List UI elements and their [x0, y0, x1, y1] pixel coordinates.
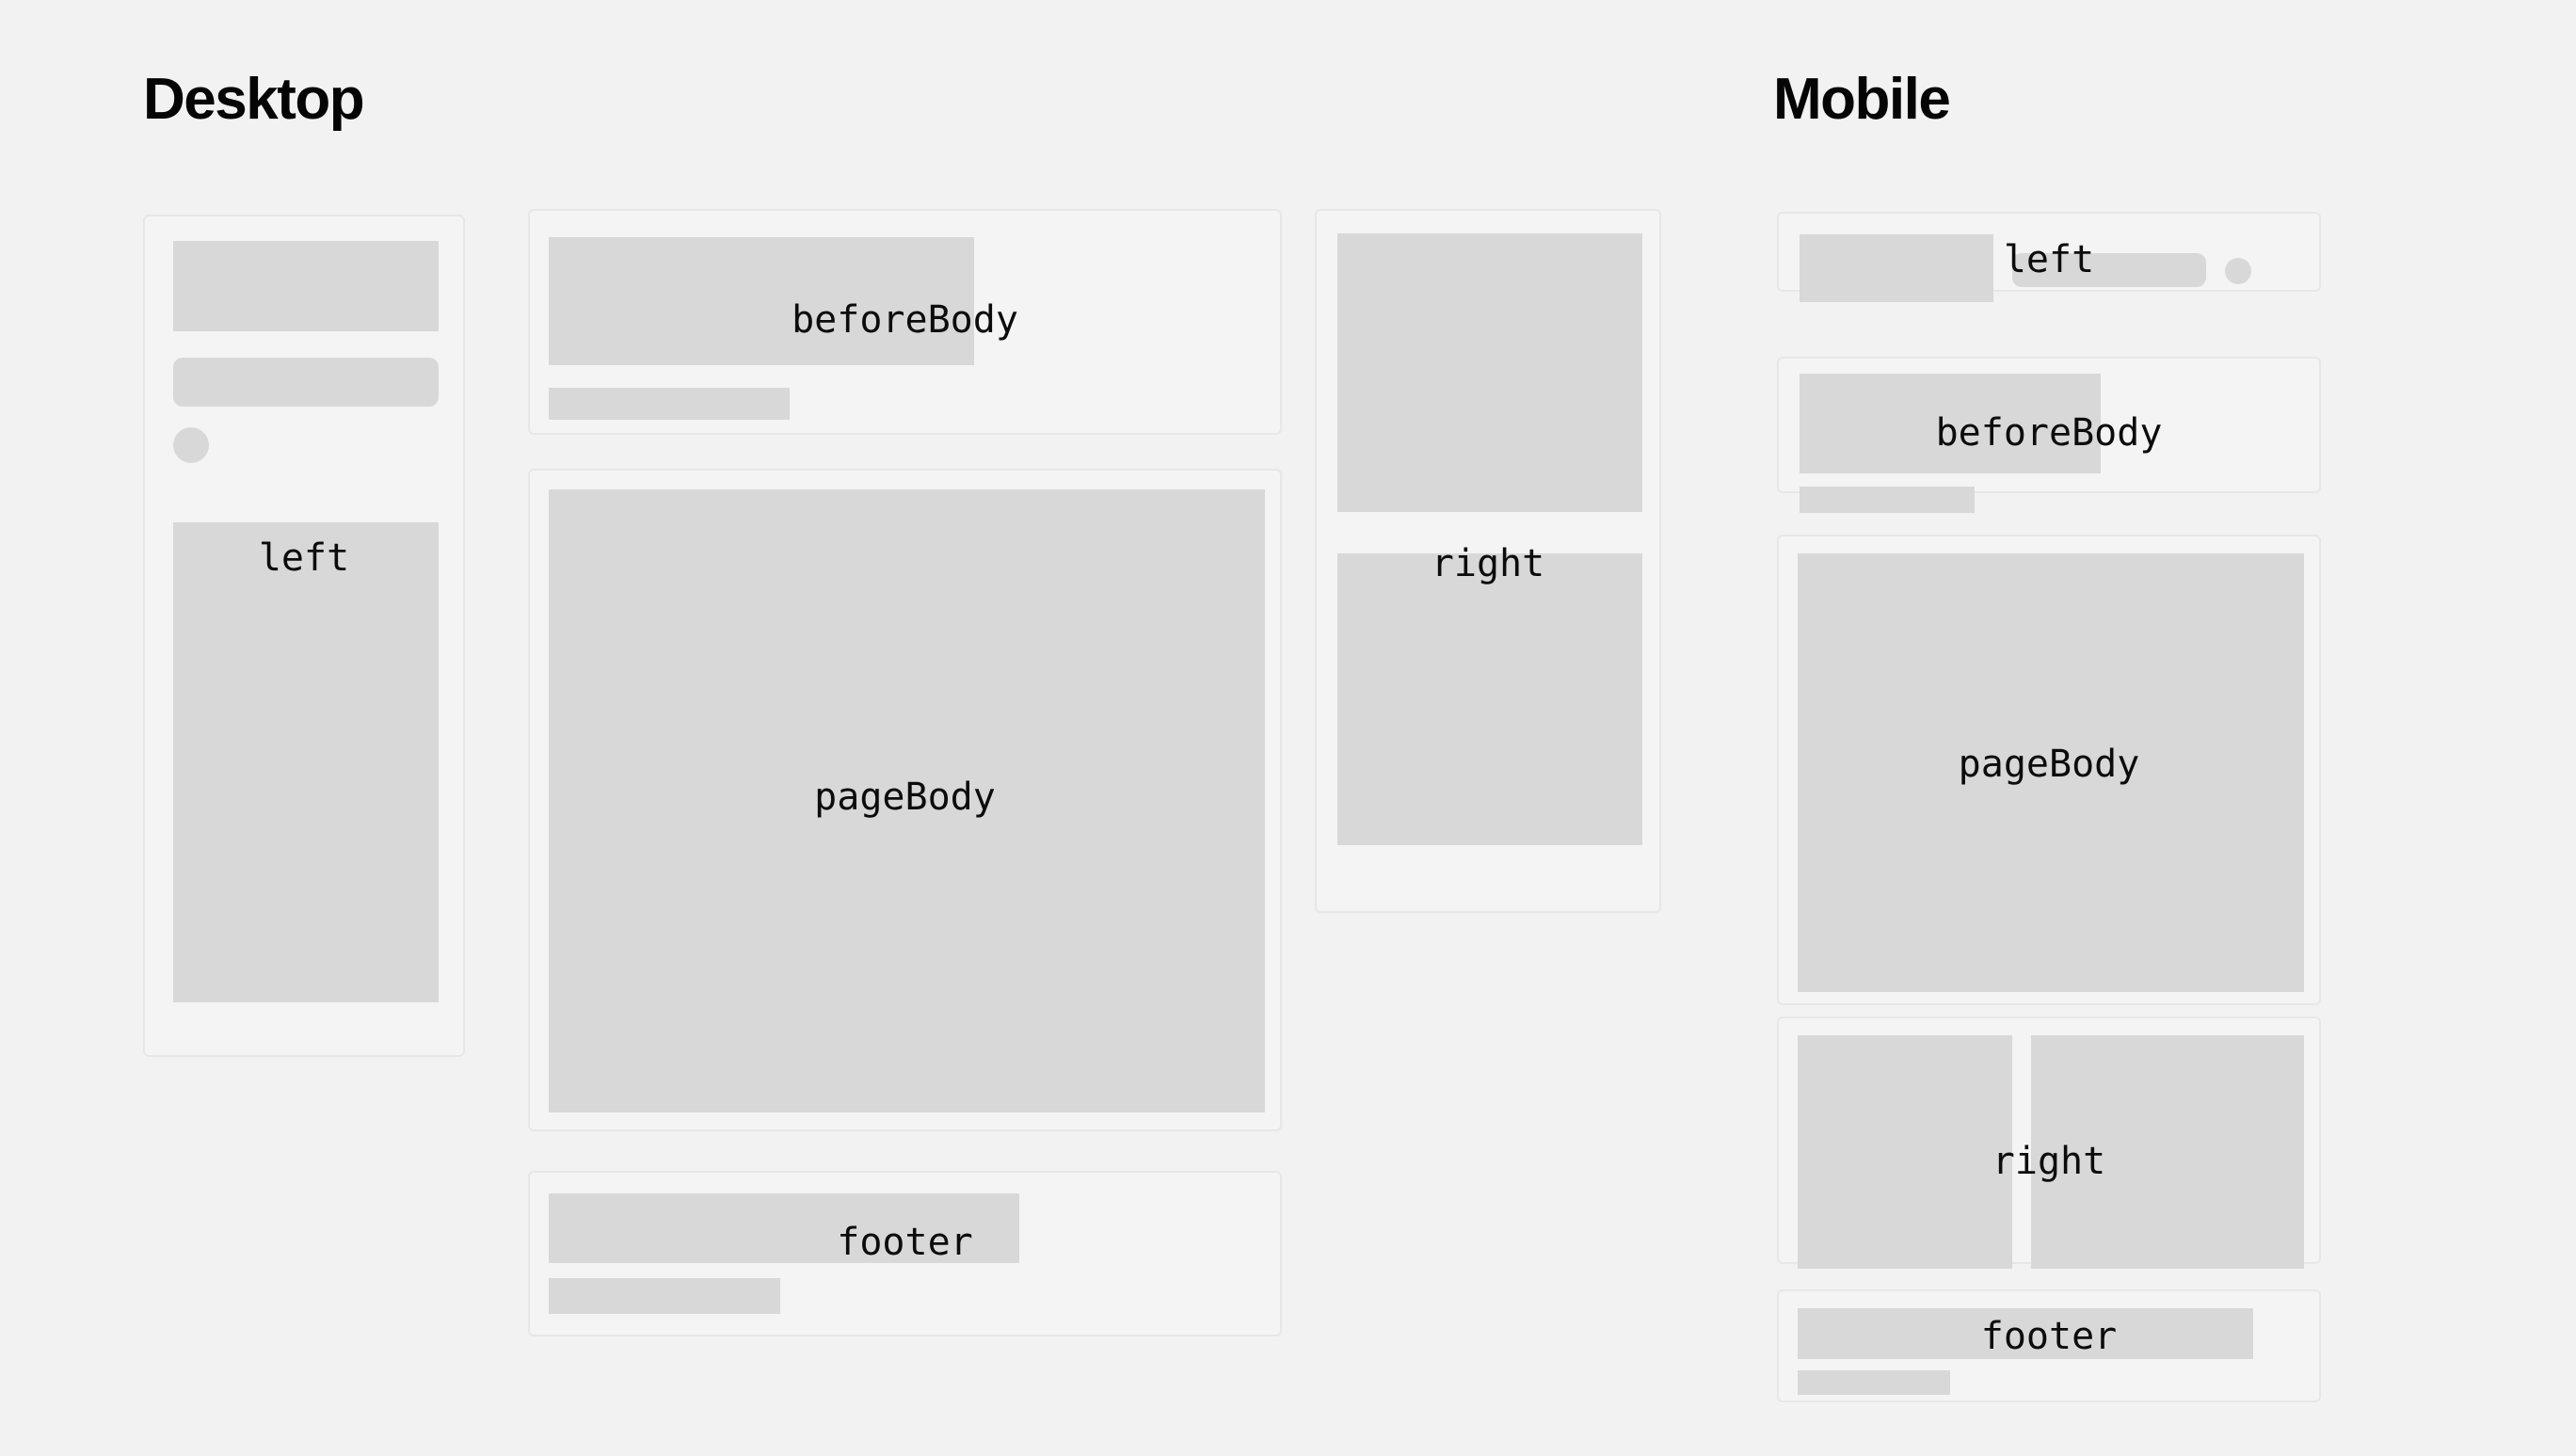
placeholder-block — [2031, 1035, 2304, 1269]
placeholder-block — [1798, 553, 2304, 992]
placeholder-block — [173, 241, 439, 331]
placeholder-block — [1798, 1370, 1950, 1395]
desktop-before-body-panel[interactable] — [528, 209, 1282, 435]
placeholder-block — [549, 489, 1265, 1112]
placeholder-block — [1800, 487, 1975, 513]
placeholder-block — [549, 1193, 1019, 1263]
placeholder-block — [173, 358, 439, 407]
placeholder-block — [549, 237, 974, 365]
desktop-footer-panel[interactable] — [528, 1171, 1282, 1336]
mobile-page-body-panel[interactable] — [1777, 535, 2321, 1005]
placeholder-avatar-circle — [2225, 258, 2251, 284]
placeholder-block — [173, 522, 439, 1002]
placeholder-block — [2012, 253, 2206, 287]
mobile-right-panel[interactable] — [1777, 1016, 2321, 1264]
placeholder-block — [1798, 1308, 2253, 1359]
placeholder-block — [549, 388, 790, 420]
placeholder-avatar-circle — [173, 427, 209, 463]
mobile-before-body-panel[interactable] — [1777, 357, 2321, 493]
mobile-section-title: Mobile — [1773, 71, 1949, 129]
placeholder-block — [1800, 374, 2101, 473]
mobile-footer-panel[interactable] — [1777, 1289, 2321, 1402]
placeholder-block — [1798, 1035, 2012, 1269]
desktop-left-panel[interactable] — [143, 215, 465, 1057]
placeholder-block — [1800, 234, 1993, 302]
placeholder-block — [1337, 233, 1642, 512]
desktop-page-body-panel[interactable] — [528, 469, 1282, 1131]
placeholder-block — [1337, 553, 1642, 845]
placeholder-block — [549, 1278, 780, 1314]
mobile-left-panel[interactable] — [1777, 212, 2321, 292]
desktop-right-panel[interactable] — [1315, 209, 1661, 913]
desktop-section-title: Desktop — [143, 71, 363, 129]
